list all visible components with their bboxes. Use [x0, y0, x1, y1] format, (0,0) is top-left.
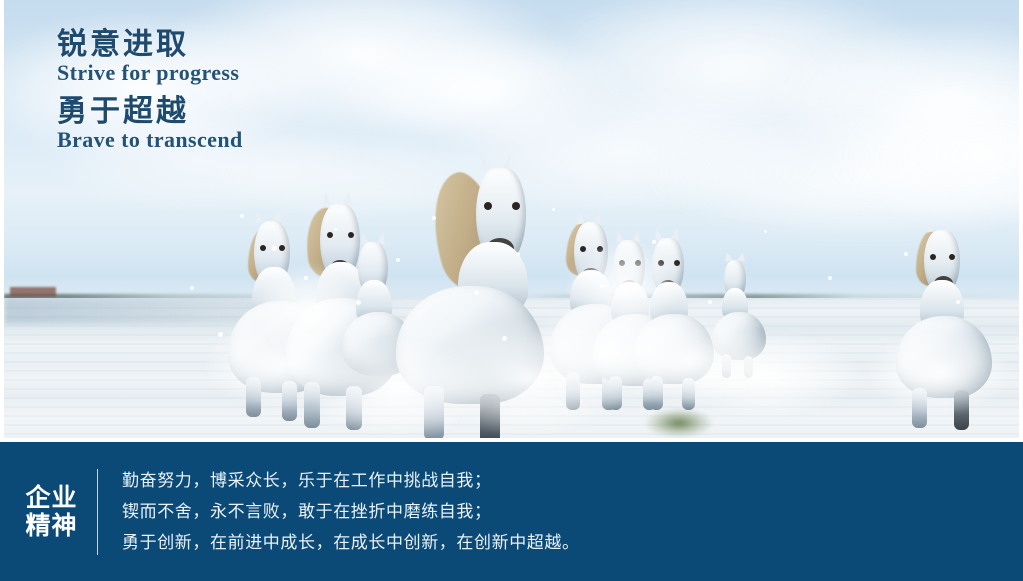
- headline-line1-english: Strive for progress: [57, 62, 243, 84]
- spray-droplet: [218, 332, 223, 337]
- headline-line1-chinese: 锐意进取: [57, 30, 243, 60]
- banner-label-line2: 精神: [6, 512, 97, 540]
- spray-droplet: [272, 246, 277, 251]
- corporate-culture-banner-page: 锐意进取 Strive for progress 勇于超越 Brave to t…: [0, 0, 1023, 581]
- spray-droplet: [956, 300, 960, 304]
- spray-droplet: [474, 290, 479, 295]
- spray-droplet: [502, 336, 507, 341]
- spray-droplet: [432, 216, 436, 220]
- spray-droplet: [904, 252, 908, 256]
- water-splash: [864, 330, 1014, 416]
- banner-content: 企业 精神 勤奋努力，博采众长，乐于在工作中挑战自我； 锲而不舍，永不言败，敢于…: [0, 442, 1023, 581]
- banner-text-line-2: 锲而不舍，永不言败，敢于在挫折中磨练自我；: [122, 496, 580, 527]
- spray-droplet: [652, 240, 656, 244]
- spray-droplet: [304, 276, 308, 280]
- distant-building: [10, 287, 56, 297]
- spray-droplet: [396, 258, 400, 262]
- banner-label-corporate-spirit: 企业 精神: [0, 484, 97, 540]
- corporate-spirit-banner: 企业 精神 勤奋努力，博采众长，乐于在工作中挑战自我； 锲而不舍，永不言败，敢于…: [0, 442, 1023, 581]
- spray-droplet: [356, 300, 361, 305]
- photo-left-border: [0, 0, 4, 442]
- headline-line2-english: Brave to transcend: [57, 129, 243, 151]
- water-splash: [564, 240, 684, 330]
- spray-droplet: [828, 276, 832, 280]
- spray-droplet: [764, 230, 767, 233]
- spray-droplet: [600, 284, 604, 288]
- banner-text-line-3: 勇于创新，在前进中成长，在成长中创新，在创新中超越。: [122, 527, 580, 558]
- spray-droplet: [708, 300, 712, 304]
- spray-droplet: [190, 286, 194, 290]
- photo-right-border: [1019, 0, 1023, 442]
- spray-droplet: [240, 214, 244, 218]
- spray-droplet: [334, 228, 337, 231]
- headline-line2-chinese: 勇于超越: [57, 97, 243, 127]
- banner-text-line-1: 勤奋努力，博采众长，乐于在工作中挑战自我；: [122, 465, 580, 496]
- banner-label-line1: 企业: [6, 484, 97, 512]
- shore-vegetation: [644, 408, 714, 438]
- spray-droplet: [552, 208, 555, 211]
- hero-headline: 锐意进取 Strive for progress 勇于超越 Brave to t…: [57, 30, 243, 151]
- banner-spirit-text: 勤奋努力，博采众长，乐于在工作中挑战自我； 锲而不舍，永不言败，敢于在挫折中磨练…: [98, 465, 580, 558]
- spray-droplet: [516, 252, 520, 256]
- water-splash: [664, 330, 864, 420]
